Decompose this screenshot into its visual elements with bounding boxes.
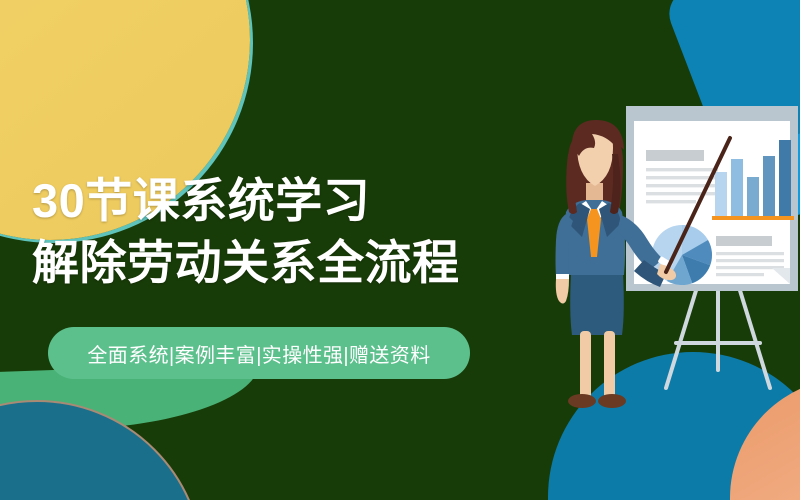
leg-left: [580, 331, 591, 399]
subtitle-badge: 全面系统|案例丰富|实操性强|赠送资料: [48, 327, 470, 379]
easel-icon: [666, 284, 770, 388]
headline-line-2: 解除劳动关系全流程: [32, 232, 460, 294]
shoe-right: [598, 394, 626, 408]
cuff-left: [556, 274, 569, 279]
bar-chart-baseline: [712, 216, 794, 220]
headline-block: 30节课系统学习 解除劳动关系全流程: [32, 170, 460, 294]
skirt: [570, 273, 624, 335]
leg-right: [604, 331, 615, 399]
headline-line-1: 30节课系统学习: [32, 170, 460, 232]
hand-left: [556, 279, 569, 304]
presenter-illustration: [548, 88, 800, 408]
subtitle-text: 全面系统|案例丰富|实操性强|赠送资料: [87, 339, 430, 368]
poster-canvas: 30节课系统学习 解除劳动关系全流程 全面系统|案例丰富|实操性强|赠送资料: [0, 0, 800, 500]
shoe-left: [568, 394, 596, 408]
